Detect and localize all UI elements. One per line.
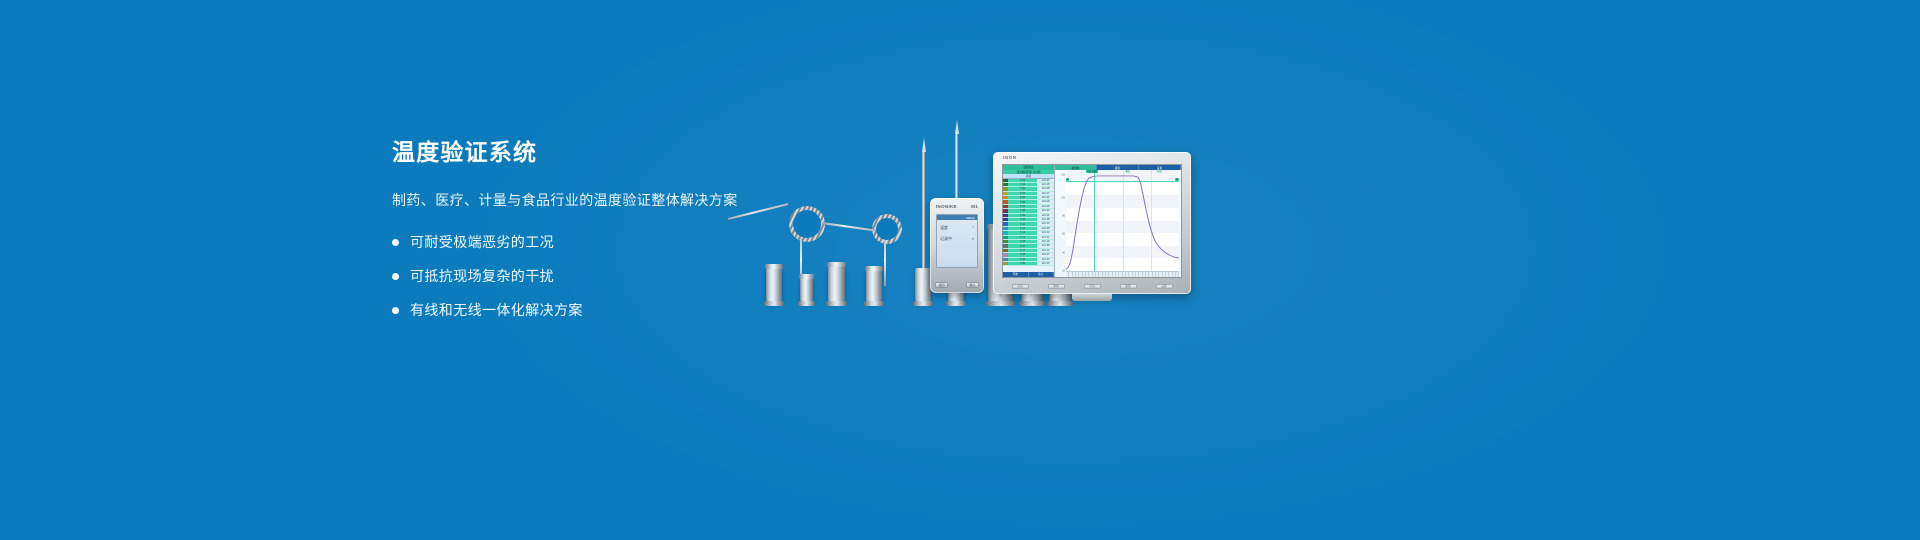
channel-value-cell: 121.41 — [1037, 236, 1054, 239]
channel-name-cell: T-12 — [1008, 227, 1037, 230]
channel-table: 温度验证 通道数据列表 实时值 通道 T-01121.31T-02121.28T… — [1003, 165, 1055, 277]
start-button[interactable]: 开始 — [1003, 272, 1029, 277]
coil-probe-large-icon — [789, 206, 825, 242]
coil-probe-small-icon — [872, 214, 902, 244]
y-axis-tick-label: 60 — [1062, 233, 1065, 236]
hero-banner: 温度验证系统 制药、医疗、计量与食品行业的温度验证整体解决方案 可耐受极端恶劣的… — [0, 0, 1920, 540]
handheld-row-label: 温度 — [940, 225, 948, 231]
sensor-base — [826, 301, 847, 306]
channel-value-cell: 121.31 — [1037, 179, 1054, 182]
sensor-cap — [865, 266, 883, 271]
channel-name-cell: T-16 — [1008, 245, 1037, 248]
coil-probe-small-stem — [884, 240, 886, 286]
channel-value-cell: 121.33 — [1037, 258, 1054, 261]
handheld-screen-header: MENU — [937, 215, 977, 220]
y-axis-tick-label: 125 — [1061, 173, 1065, 176]
channel-table-body[interactable]: T-01121.31T-02121.28T-03121.35T-04121.17… — [1003, 179, 1054, 273]
table-row[interactable]: T-20121.20 — [1003, 262, 1054, 266]
monitor-button-bar: 主页 查询 导出 报警 设置 — [1002, 280, 1182, 292]
monitor-button-query[interactable]: 查询 — [1048, 284, 1065, 289]
handheld-key-back[interactable]: 返回 — [935, 282, 948, 288]
channel-value-cell: 121.33 — [1037, 209, 1054, 212]
channel-value-cell: 121.27 — [1037, 253, 1054, 256]
handheld-brand-label: INONIKE — [936, 204, 957, 209]
channel-name-cell: T-13 — [1008, 231, 1037, 234]
channel-name-cell: T-02 — [1008, 183, 1037, 186]
sensor-base-2 — [800, 278, 813, 302]
channel-name-cell: T-15 — [1008, 240, 1037, 243]
bullet-dot-icon — [392, 273, 399, 280]
channel-name-cell: T-11 — [1008, 223, 1037, 226]
stop-button[interactable]: 停止 — [1029, 272, 1055, 277]
handheld-screen-row: 温度 ° — [937, 225, 977, 231]
handheld-key-confirm[interactable]: 确认 — [966, 282, 979, 288]
channel-value-cell: 121.19 — [1037, 240, 1054, 243]
monitor-display: INON 温度验证 通道数据列表 实时值 通道 T-01121.31T-0212… — [993, 152, 1191, 294]
handheld-row-value: ° — [972, 225, 974, 231]
chart-series-curve — [1066, 170, 1179, 271]
chart-y-axis: 12510080604020 — [1055, 170, 1066, 271]
list-item-label: 可抵抗现场复杂的干扰 — [410, 266, 554, 286]
software-screen: 温度验证 通道数据列表 实时值 通道 T-01121.31T-02121.28T… — [1002, 164, 1182, 278]
monitor-stand — [1072, 294, 1112, 301]
channel-name-cell: T-01 — [1008, 179, 1037, 182]
y-axis-tick-label: 40 — [1062, 251, 1065, 254]
y-axis-tick-label: 80 — [1062, 214, 1065, 217]
channel-value-cell: 121.24 — [1037, 231, 1054, 234]
logger-base — [1047, 301, 1073, 306]
monitor-button-export[interactable]: 导出 — [1084, 284, 1101, 289]
list-item-label: 有线和无线一体化解决方案 — [410, 300, 583, 320]
handheld-screen-row: 记录中 » — [937, 236, 977, 242]
needle-probe-short-icon — [922, 152, 925, 286]
handheld-row-label: 记录中 — [940, 236, 952, 242]
handheld-reader-device: INONIKE M1 MENU 温度 ° 记录中 » 返回 确认 — [930, 198, 984, 293]
sensor-base-4 — [866, 270, 882, 302]
logger-base — [986, 301, 1015, 306]
y-axis-tick-label: 20 — [1062, 270, 1065, 273]
channel-value-cell: 121.14 — [1037, 222, 1054, 225]
monitor-brand-label: INON — [1003, 155, 1017, 160]
channel-value-cell: 121.35 — [1037, 187, 1054, 190]
channel-name-cell: T-14 — [1008, 236, 1037, 239]
sensor-base-3 — [828, 266, 845, 302]
handheld-model-label: M1 — [971, 204, 978, 209]
needle-probe-short-base — [915, 268, 931, 302]
channel-value-cell: 121.20 — [1037, 262, 1054, 265]
channel-name-cell: T-05 — [1008, 196, 1037, 199]
channel-value-cell: 121.26 — [1037, 205, 1054, 208]
logger-base — [1019, 301, 1045, 306]
channel-value-cell: 121.42 — [1037, 196, 1054, 199]
monitor-button-settings[interactable]: 设置 — [1156, 284, 1173, 289]
channel-name-cell: T-19 — [1008, 258, 1037, 261]
channel-name-cell: T-08 — [1008, 209, 1037, 212]
sensor-base — [764, 301, 784, 306]
channel-table-footer: 开始 停止 — [1003, 272, 1054, 277]
sensor-cap — [827, 262, 846, 267]
channel-name-cell: T-18 — [1008, 253, 1037, 256]
chart-x-axis — [1066, 271, 1179, 277]
sensor-base — [798, 301, 815, 306]
x-axis-tick — [1176, 272, 1179, 277]
channel-name-cell: T-03 — [1008, 187, 1037, 190]
handheld-keypad: 返回 确认 — [935, 282, 979, 288]
channel-value-cell: 121.28 — [1037, 183, 1054, 186]
handheld-screen: MENU 温度 ° 记录中 » — [936, 214, 978, 268]
channel-value-cell: 121.21 — [1037, 214, 1054, 217]
sensor-base — [864, 301, 884, 306]
channel-value-cell: 121.09 — [1037, 200, 1054, 203]
sensor-cap — [765, 264, 783, 269]
channel-name-cell: T-20 — [1008, 262, 1037, 265]
channel-name-cell: T-04 — [1008, 192, 1037, 195]
sensor-base — [913, 301, 933, 306]
channel-value-cell: 121.36 — [1037, 244, 1054, 247]
channel-name-cell: T-09 — [1008, 214, 1037, 217]
channel-value-cell: 121.17 — [1037, 192, 1054, 195]
bullet-dot-icon — [392, 307, 399, 314]
sensor-base-1 — [766, 268, 782, 302]
handheld-row-value: » — [972, 236, 974, 242]
monitor-button-home[interactable]: 主页 — [1012, 284, 1029, 289]
channel-name-cell: T-17 — [1008, 249, 1037, 252]
channel-value-cell: 121.30 — [1037, 227, 1054, 230]
sensor-base — [946, 301, 966, 306]
channel-value-cell: 121.38 — [1037, 218, 1054, 221]
chart-plot-area: L R A点 开始 B点 C点 — [1066, 170, 1179, 271]
channel-name-cell: T-10 — [1008, 218, 1037, 221]
sensor-cap — [799, 274, 814, 279]
channel-value-cell: 121.12 — [1037, 249, 1054, 252]
chart-panel: 曲线图 报表 设置 12510080604020 L R — [1055, 165, 1181, 277]
monitor-button-alarm[interactable]: 报警 — [1120, 284, 1137, 289]
y-axis-tick-label: 100 — [1061, 196, 1065, 199]
channel-name-cell: T-07 — [1008, 205, 1037, 208]
channel-name-cell: T-06 — [1008, 201, 1037, 204]
list-item-label: 可耐受极端恶劣的工况 — [410, 232, 554, 252]
coil-probe-small-lead — [822, 222, 876, 231]
handheld-brand-row: INONIKE M1 — [930, 204, 984, 209]
bullet-dot-icon — [392, 239, 399, 246]
